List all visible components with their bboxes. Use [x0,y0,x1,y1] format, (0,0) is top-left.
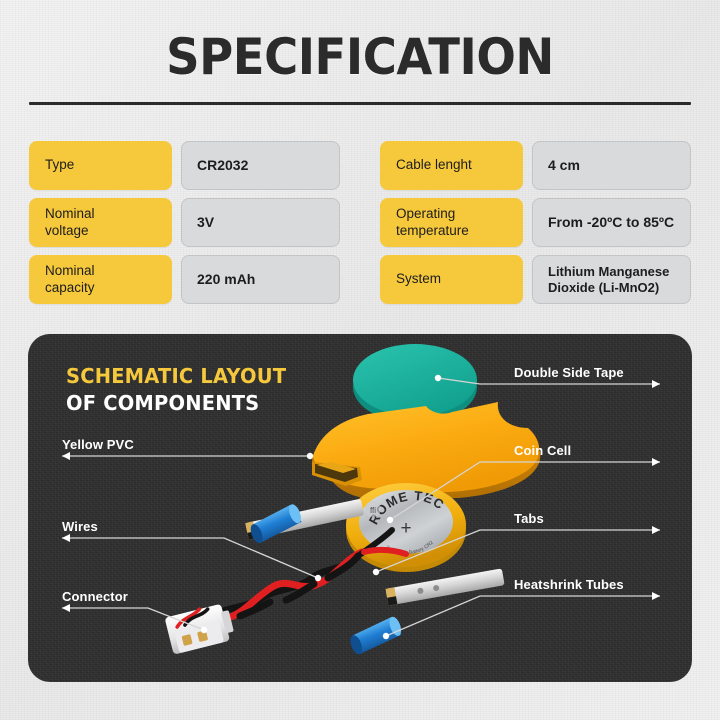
spec-label-system: System [380,255,523,304]
table-row: Nominalcapacity 220 mAh [29,255,340,304]
spec-value-type: CR2032 [181,141,340,190]
coin-cell-polarity: + [400,518,411,539]
spec-value-system: Lithium Manganese Dioxide (Li-MnO2) [532,255,691,304]
spec-label-operating-temperature: Operatingtemperature [380,198,523,247]
callout-label-coin-cell: Coin Cell [514,443,571,458]
table-row: System Lithium Manganese Dioxide (Li-MnO… [380,255,691,304]
spec-value-nominal-voltage: 3V [181,198,340,247]
callout-label-connector: Connector [62,589,128,604]
callout-label-double-side-tape: Double Side Tape [514,365,624,380]
spec-value-operating-temperature: From -20ºC to 85ºC [532,198,691,247]
svg-text:ffi: ffi [370,506,376,515]
callout-label-yellow-pvc: Yellow PVC [62,437,134,452]
spec-label-nominal-capacity: Nominalcapacity [29,255,172,304]
table-row: Type CR2032 [29,141,340,190]
exploded-view-illustration: ROME TECH + 3v Lithium Battery CR2032 ff… [28,334,692,682]
page-title: SPECIFICATION [25,28,695,86]
callout-label-heatshrink-tubes: Heatshrink Tubes [514,577,624,592]
table-row: Nominalvoltage 3V [29,198,340,247]
schematic-layout-panel: SCHEMATIC LAYOUT OF COMPONENTS [28,334,692,682]
callout-label-tabs: Tabs [514,511,544,526]
spec-value-nominal-capacity: 220 mAh [181,255,340,304]
spec-label-nominal-voltage: Nominalvoltage [29,198,172,247]
title-divider [29,102,691,105]
table-row: Operatingtemperature From -20ºC to 85ºC [380,198,691,247]
specification-table: Type CR2032 Cable lenght 4 cm Nominalvol… [29,141,691,304]
table-row: Cable lenght 4 cm [380,141,691,190]
spec-label-cable-length: Cable lenght [380,141,523,190]
spec-label-type: Type [29,141,172,190]
spec-value-cable-length: 4 cm [532,141,691,190]
callout-label-wires: Wires [62,519,98,534]
